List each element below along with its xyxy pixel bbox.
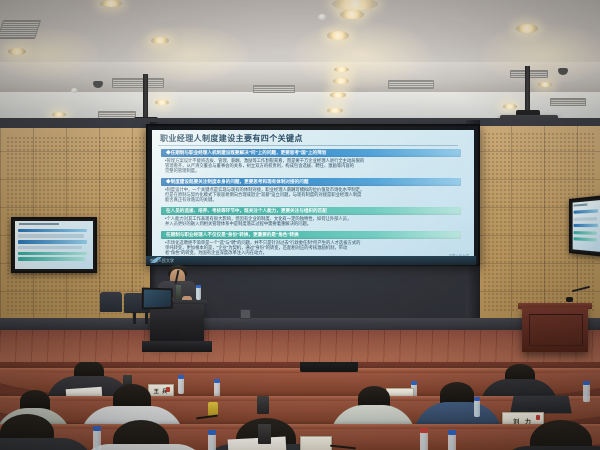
screen-logo-text: 中国人民大学 [150,258,174,264]
water-bottle [93,430,101,450]
hvac-vent [550,98,586,106]
desk-edge-front [0,424,600,429]
hvac-vent [112,78,164,88]
bottle-cap [474,397,480,401]
ceiling [0,0,600,126]
slide-section: ◆任期制与职业经理人机制建设既要解决"问"上的问题，更要思考"国"上的筛划 •管… [161,149,461,174]
bottle-cap [178,375,184,379]
projector-mount-pole [143,74,148,122]
audience-area: 王 兵 刘 力 [0,362,600,450]
projection-screen: 职业经理人制度建设主要有四个关键点 ◆任期制与职业经理人机制建设既要解决"问"上… [146,124,480,266]
conference-hall-photo: 职业经理人制度建设主要有四个关键点 ◆任期制与职业经理人机制建设既要解决"问"上… [0,0,600,450]
downlight [8,48,26,55]
section-heading-text: ◆任期制与职业经理人机制建设既要解决"问"上的问题，更要思考"国"上的筛划 [166,149,326,157]
wall-speaker [300,362,358,372]
bottle-cap [196,285,201,288]
section-body-line: 并入员更好的融入到相关管理体系中是制度落实过程中需要着重解决的问题。 [165,221,461,226]
slide-title: 职业经理人制度建设主要有四个关键点 [160,133,303,144]
section-body: •个人能力对其工作表现有很大影响，但因有企业的制度、文化有一定的独特性，如何让外… [161,216,461,226]
downlight [332,0,378,10]
section-heading-bar: ◆制度建设既要关注制度本身的问题，更要思考和现有体制对接的问题 [161,178,461,186]
bottle-cap [448,430,456,435]
section-heading-text: 任期制与职业经理人不仅仅是"身份"转换，更重要的是"角色"转换 [166,231,299,239]
downlight [340,10,364,19]
presentation-slide: 职业经理人制度建设主要有四个关键点 ◆任期制与职业经理人机制建设既要解决"问"上… [152,130,474,260]
wall-outlet [240,309,251,319]
smoke-detector [71,88,78,93]
open-notebook [228,436,287,450]
water-bottle [208,434,216,450]
hvac-vent [0,20,41,39]
downlight [503,104,517,109]
section-heading-text: 在人员的选拔、培养、考核等环节中，既关注个人能力，更要关注与组织的匹配 [166,207,327,215]
desk-edge-middle [0,396,600,401]
water-bottle [420,432,428,450]
speaker-necktie [176,285,181,299]
water-bottle [448,434,456,450]
hvac-vent [253,85,295,93]
podium-front-panel [529,314,583,346]
screen-bottom-skirt [146,256,476,265]
slide-section: 在人员的选拔、培养、考核等环节中，既关注个人能力，更要关注与组织的匹配 •个人能… [161,207,461,226]
downlight [334,67,349,72]
stage-chair [100,292,122,312]
chair-leg [133,312,136,324]
speaker-lectern [150,304,204,344]
wooden-podium [522,307,588,352]
bottle-cap [93,426,101,431]
left-wall-tv [11,217,97,273]
projector-mount-pole [525,66,530,114]
water-bottle [178,378,184,394]
bottle-cap [208,430,216,435]
downlight [155,100,169,105]
left-wall-tv-screen [15,221,93,269]
section-body-line: 完整的管理制度。 [165,168,461,173]
right-wall-tv [569,195,600,257]
bottle-cap [411,381,417,385]
laptop [510,396,572,414]
downlight [516,24,538,33]
water-bottle [583,384,590,402]
downlight [100,0,122,7]
smoke-detector [318,14,327,20]
chair-leg [145,312,148,324]
slide-section: ◆制度建设既要关注制度本身的问题，更要思考和现有体制对接的问题 •制度设计中，一… [161,178,461,203]
water-bottle [474,400,480,417]
bottle-cap [583,381,590,385]
tumbler-cup [257,396,269,414]
right-wall-tv-screen [573,200,600,252]
downlight [333,78,349,84]
podium-mic-base [566,297,573,302]
section-heading-text: ◆制度建设既要关注制度本身的问题，更要思考和现有体制对接的问题 [166,178,308,186]
section-heading-bar: 在人员的选拔、培养、考核等环节中，既关注个人能力，更要关注与组织的匹配 [161,207,461,215]
water-bottle [196,287,201,300]
title-underline [158,145,458,146]
downlight [327,31,349,40]
downlight [330,92,346,98]
section-body: •管理方案设计不能将选拔、管理、薪酬、激励等工作割裂来看，而是要千万企业经理人进… [161,158,461,174]
slide-section: 任期制与职业经理人不仅仅是"身份"转换，更重要的是"角色"转换 •市场化选聘绝不… [161,231,461,256]
light-glow [292,22,432,88]
downlight [327,108,343,113]
lectern-monitor [142,287,173,309]
downlight [151,37,169,44]
section-heading-bar: 任期制与职业经理人不仅仅是"身份"转换，更重要的是"角色"转换 [161,231,461,239]
lectern-base [142,341,212,352]
section-body: •市场化选聘绝不简单是一个"选"与"聘"的问题，并不只是针对过去"行政委任制"所… [161,240,461,256]
hvac-vent [388,80,434,89]
section-body: •制度设计中，一个关键点是实现与现有的体制对接，职业经理人薪酬可模拟的位价值及市… [161,187,461,203]
downlight [538,82,552,87]
downlight [52,112,66,117]
lectern-monitor-screen [144,290,171,308]
nameplate [300,436,332,450]
tumbler-cup [258,424,271,444]
section-body-line: 能否真正有效落实的关键。 [165,197,461,202]
bottle-cap [214,379,220,383]
section-body-line: 者"角色"的转变，为国有企业深度改革注入内在动力。 [165,250,461,255]
section-heading-bar: ◆任期制与职业经理人机制建设既要解决"问"上的问题，更要思考"国"上的筛划 [161,149,461,157]
bottle-cap [420,428,428,433]
